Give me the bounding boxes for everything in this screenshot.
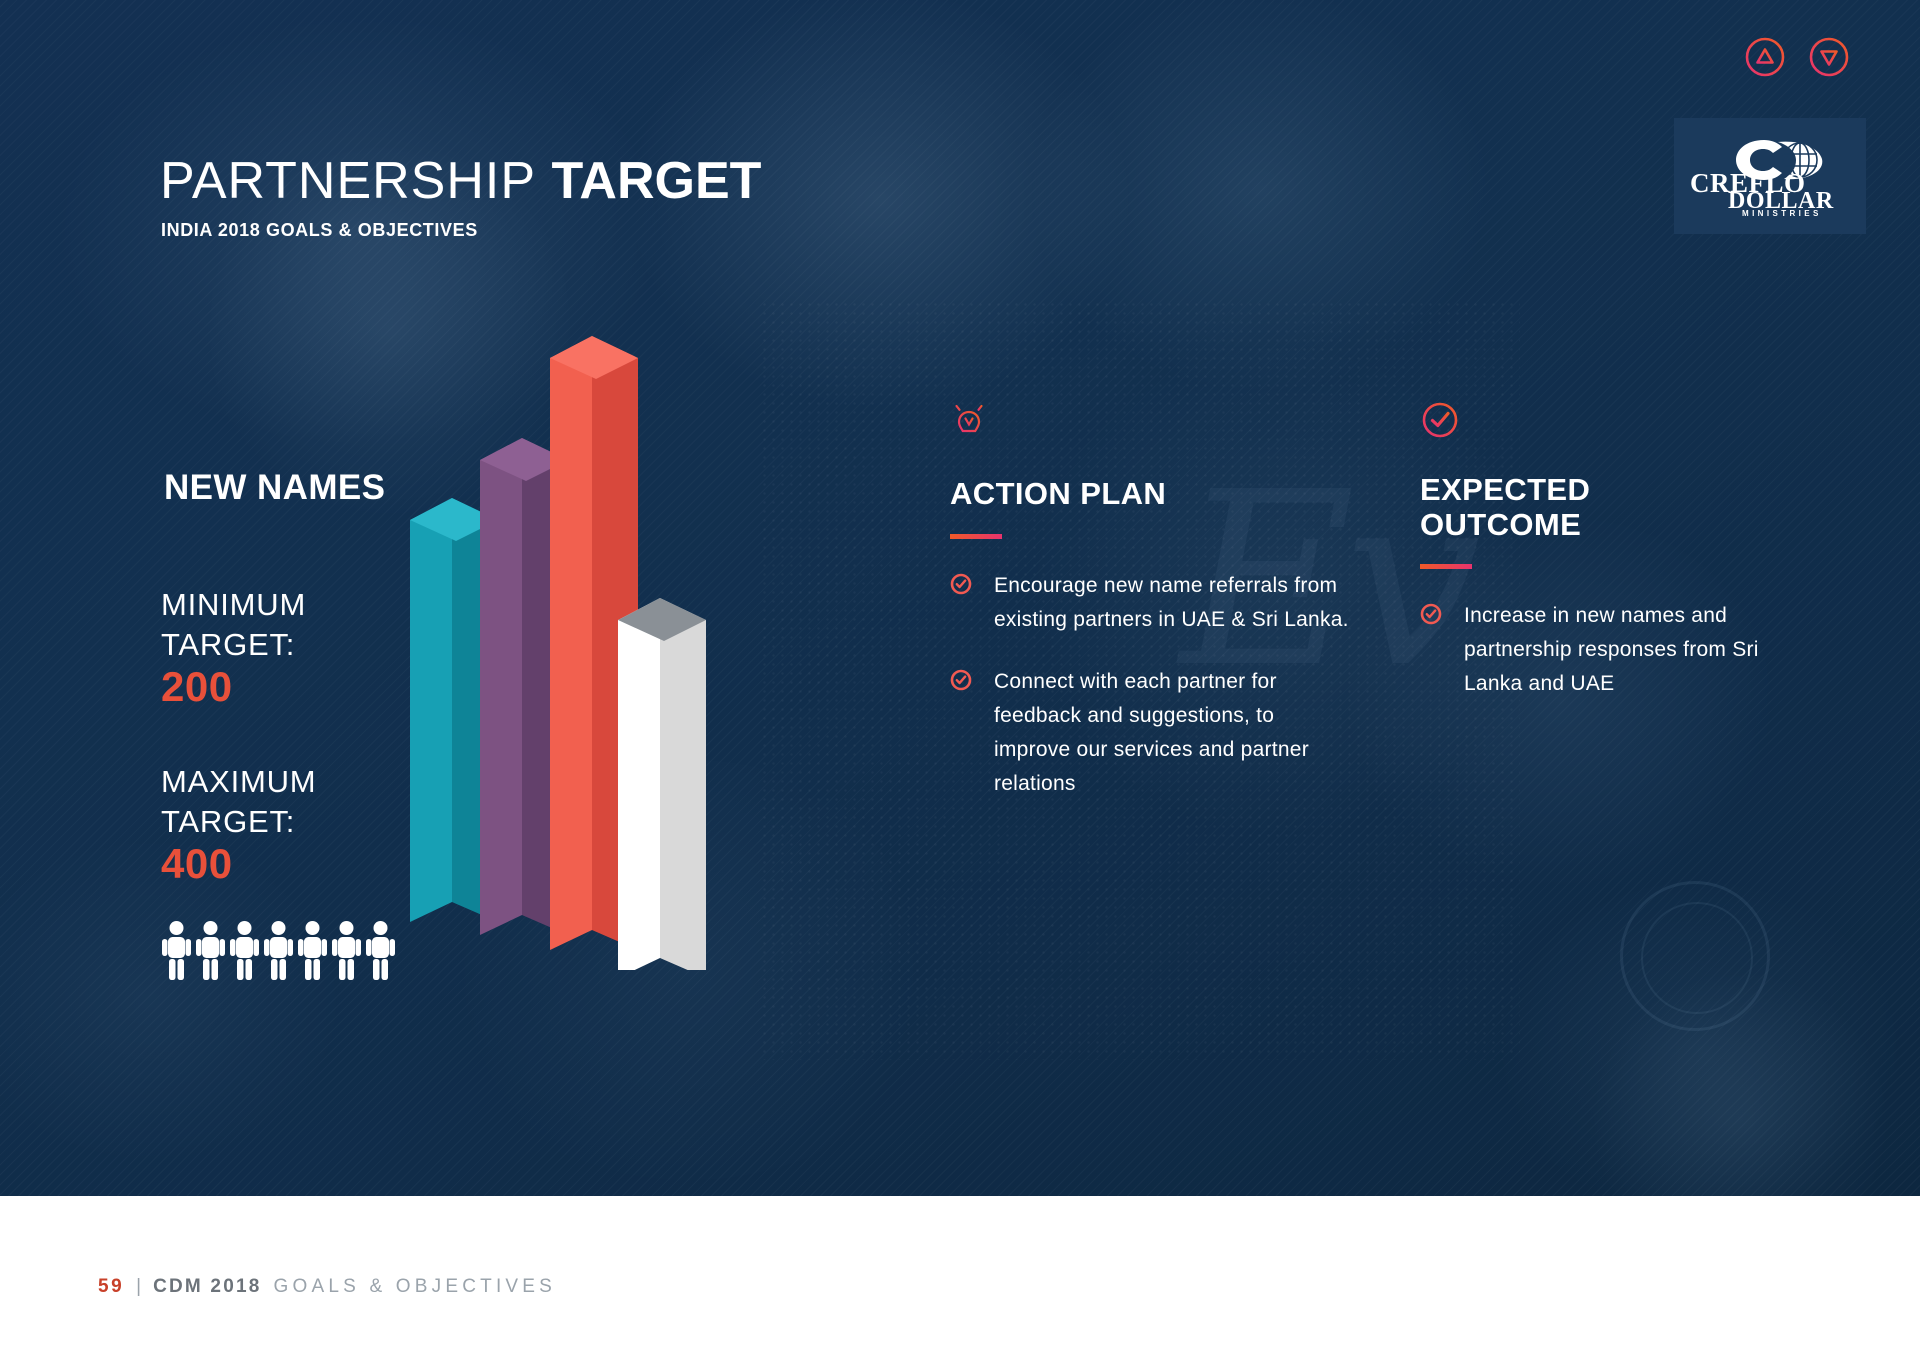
check-circle-bullet-icon: [950, 669, 972, 696]
person-icon: [298, 920, 327, 980]
bullet-item: Connect with each partner for feedback a…: [950, 665, 1350, 801]
chart-bar-4: [618, 598, 706, 970]
footer-tail: GOALS & OBJECTIVES: [274, 1276, 557, 1298]
expected-outcome-title: EXPECTED OUTCOME: [1420, 473, 1800, 542]
maximum-target-label-line1: MAXIMUM: [161, 762, 316, 802]
action-plan-title: ACTION PLAN: [950, 477, 1350, 512]
footer-page-number: 59: [98, 1276, 124, 1298]
minimum-target-value: 200: [161, 664, 306, 710]
expected-outcome-column: EXPECTED OUTCOME Increase in new names a…: [1420, 400, 1800, 729]
slide-navigation: [1744, 36, 1850, 78]
check-circle-bullet-icon: [950, 573, 972, 600]
footer-caption: 59 | CDM 2018 GOALS & OBJECTIVES: [98, 1276, 556, 1298]
brand-logo: CREFLO DOLLAR MINISTRIES: [1674, 118, 1866, 234]
expected-outcome-bullet-list: Increase in new names and partnership re…: [1420, 599, 1800, 701]
person-icon: [264, 920, 293, 980]
expected-outcome-accent-rule: [1420, 564, 1472, 569]
background-photo-blob: [1580, 960, 1900, 1196]
check-circle-bullet-icon: [1420, 603, 1442, 630]
background-seal-watermark: [1620, 881, 1770, 1031]
stats-heading: NEW NAMES: [164, 468, 385, 508]
maximum-target-value: 400: [161, 841, 316, 887]
person-icon: [230, 920, 259, 980]
person-icon: [366, 920, 395, 980]
slide-footer: 59 | CDM 2018 GOALS & OBJECTIVES: [0, 1196, 1920, 1358]
person-icon: [196, 920, 225, 980]
bullet-text: Encourage new name referrals from existi…: [994, 569, 1350, 637]
page-title: PARTNERSHIP TARGET: [160, 155, 761, 207]
bullet-item: Increase in new names and partnership re…: [1420, 599, 1800, 701]
bullet-item: Encourage new name referrals from existi…: [950, 569, 1350, 637]
nav-up-button[interactable]: [1744, 36, 1786, 78]
page-title-light: PARTNERSHIP: [160, 152, 536, 210]
slide-root: Ev: [0, 0, 1920, 1358]
action-plan-accent-rule: [950, 534, 1002, 539]
minimum-target-label-line1: MINIMUM: [161, 585, 306, 625]
maximum-target-label-line2: TARGET:: [161, 802, 316, 842]
nav-down-button[interactable]: [1808, 36, 1850, 78]
page-title-bold: TARGET: [552, 152, 762, 210]
action-plan-column: ACTION PLAN Encourage new name referrals…: [950, 400, 1350, 829]
expected-outcome-title-line2: OUTCOME: [1420, 508, 1800, 543]
footer-brand: CDM 2018: [153, 1276, 261, 1298]
footer-separator: |: [136, 1276, 141, 1298]
page-subtitle: INDIA 2018 GOALS & OBJECTIVES: [161, 220, 478, 241]
new-names-bar-chart: [400, 330, 720, 970]
person-icon: [332, 920, 361, 980]
expected-outcome-title-line1: EXPECTED: [1420, 473, 1800, 508]
person-icon: [162, 920, 191, 980]
maximum-target-block: MAXIMUM TARGET: 400: [161, 762, 316, 888]
check-circle-icon: [1420, 400, 1800, 445]
minimum-target-block: MINIMUM TARGET: 200: [161, 585, 306, 711]
people-pictogram-group: [162, 920, 395, 980]
bullet-text: Increase in new names and partnership re…: [1464, 599, 1800, 701]
bullet-text: Connect with each partner for feedback a…: [994, 665, 1350, 801]
lightbulb-icon: [950, 400, 1350, 449]
action-plan-bullet-list: Encourage new name referrals from existi…: [950, 569, 1350, 801]
logo-ministries-text: MINISTRIES: [1742, 210, 1822, 218]
minimum-target-label-line2: TARGET:: [161, 625, 306, 665]
